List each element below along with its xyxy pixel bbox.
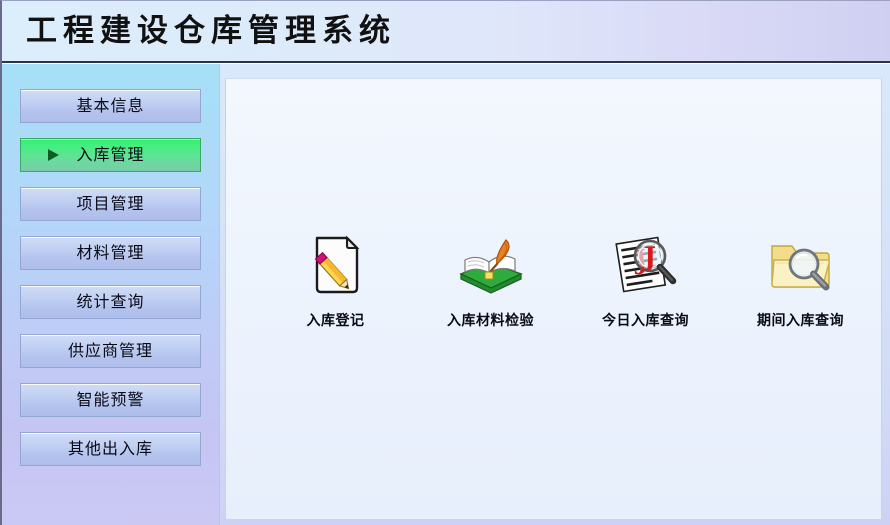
book-quill-icon: [455, 234, 527, 296]
document-magnifier-icon: J J: [612, 234, 680, 296]
sidebar-item-inbound-management[interactable]: 入库管理: [20, 138, 201, 172]
sidebar-item-material-management[interactable]: 材料管理: [20, 236, 201, 270]
sidebar-item-label: 入库管理: [20, 138, 201, 172]
sidebar-item-label: 供应商管理: [20, 334, 201, 368]
sidebar-item-project-management[interactable]: 项目管理: [20, 187, 201, 221]
sidebar-menu: 基本信息 入库管理 项目管理 材料管理 统计查询 供应商管理: [20, 89, 201, 525]
svg-text:J: J: [642, 242, 656, 271]
content-icon-period-inbound-query[interactable]: 期间入库查询: [723, 234, 878, 330]
sidebar-item-label: 统计查询: [20, 285, 201, 319]
icon-art: [258, 234, 413, 296]
icon-art: J J: [568, 234, 723, 296]
content-icon-label: 入库登记: [258, 310, 413, 330]
sidebar-item-basic-info[interactable]: 基本信息: [20, 89, 201, 123]
content-icon-inbound-registration[interactable]: 入库登记: [258, 234, 413, 330]
application-window: 工程建设仓库管理系统 基本信息 入库管理 项目管理 材料管理: [0, 0, 890, 525]
folder-magnifier-icon: [766, 234, 836, 296]
sidebar-item-label: 智能预警: [20, 383, 201, 417]
icon-art: [413, 234, 568, 296]
content-area: 入库登记: [220, 64, 890, 525]
module-icon-grid: 入库登记: [226, 234, 881, 330]
page-pencil-icon: [307, 234, 365, 296]
content-icon-label: 期间入库查询: [723, 310, 878, 330]
sidebar-item-smart-alert[interactable]: 智能预警: [20, 383, 201, 417]
content-icon-label: 入库材料检验: [413, 310, 568, 330]
icon-art: [723, 234, 878, 296]
sidebar-item-label: 基本信息: [20, 89, 201, 123]
sidebar-item-supplier-management[interactable]: 供应商管理: [20, 334, 201, 368]
sidebar-item-statistics-query[interactable]: 统计查询: [20, 285, 201, 319]
page-title: 工程建设仓库管理系统: [26, 11, 396, 51]
content-icon-today-inbound-query[interactable]: J J 今日入库查询: [568, 234, 723, 330]
sidebar-item-label: 其他出入库: [20, 432, 201, 466]
sidebar-item-label: 材料管理: [20, 236, 201, 270]
sidebar-item-label: 项目管理: [20, 187, 201, 221]
app-header: 工程建设仓库管理系统: [2, 1, 890, 63]
sidebar: 基本信息 入库管理 项目管理 材料管理 统计查询 供应商管理: [2, 64, 220, 525]
content-icon-material-inspection[interactable]: 入库材料检验: [413, 234, 568, 330]
sidebar-item-other-inout[interactable]: 其他出入库: [20, 432, 201, 466]
content-panel: 入库登记: [225, 78, 882, 520]
content-icon-label: 今日入库查询: [568, 310, 723, 330]
